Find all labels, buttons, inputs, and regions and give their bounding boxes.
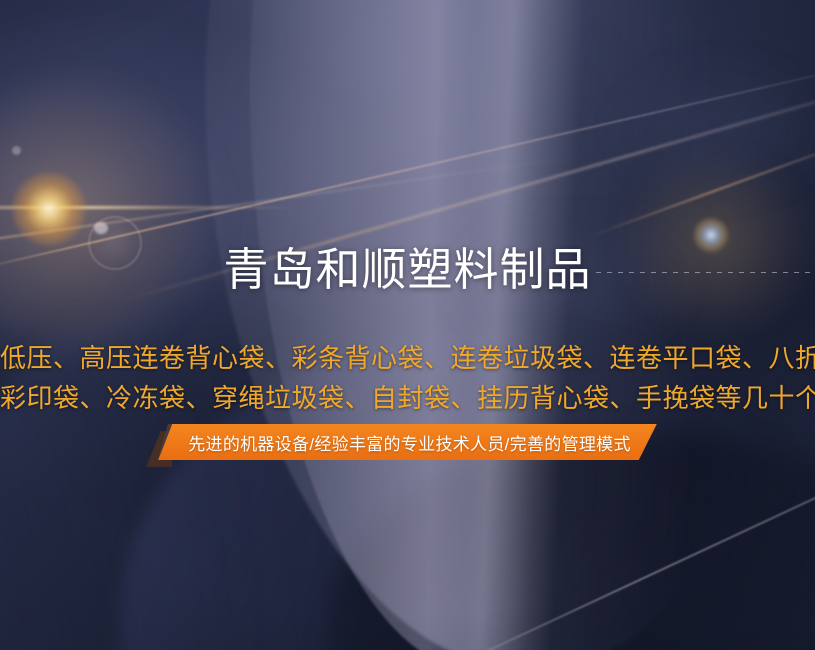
tagline-ribbon: 先进的机器设备/经验丰富的专业技术人员/完善的管理模式 bbox=[158, 424, 657, 460]
promotional-banner: 青岛和顺塑料制品 低压、高压连卷背心袋、彩条背心袋、连卷垃圾袋、连卷平口袋、八折… bbox=[0, 0, 815, 650]
title-row: 青岛和顺塑料制品 bbox=[0, 246, 815, 295]
ribbon-label: 先进的机器设备/经验丰富的专业技术人员/完善的管理模式 bbox=[188, 430, 631, 455]
ribbon-body: 先进的机器设备/经验丰富的专业技术人员/完善的管理模式 bbox=[158, 424, 657, 460]
product-line-1: 低压、高压连卷背心袋、彩条背心袋、连卷垃圾袋、连卷平口袋、八折垃圾袋、 bbox=[0, 338, 815, 378]
title-dashed-rule bbox=[596, 272, 815, 273]
page-title: 青岛和顺塑料制品 bbox=[223, 246, 591, 295]
banner-content: 青岛和顺塑料制品 低压、高压连卷背心袋、彩条背心袋、连卷垃圾袋、连卷平口袋、八折… bbox=[0, 0, 815, 650]
product-list: 低压、高压连卷背心袋、彩条背心袋、连卷垃圾袋、连卷平口袋、八折垃圾袋、 彩印袋、… bbox=[0, 338, 815, 418]
product-line-2: 彩印袋、冷冻袋、穿绳垃圾袋、自封袋、挂历背心袋、手挽袋等几十个品种 bbox=[0, 378, 815, 418]
tagline-ribbon-wrap: 先进的机器设备/经验丰富的专业技术人员/完善的管理模式 bbox=[0, 424, 815, 460]
